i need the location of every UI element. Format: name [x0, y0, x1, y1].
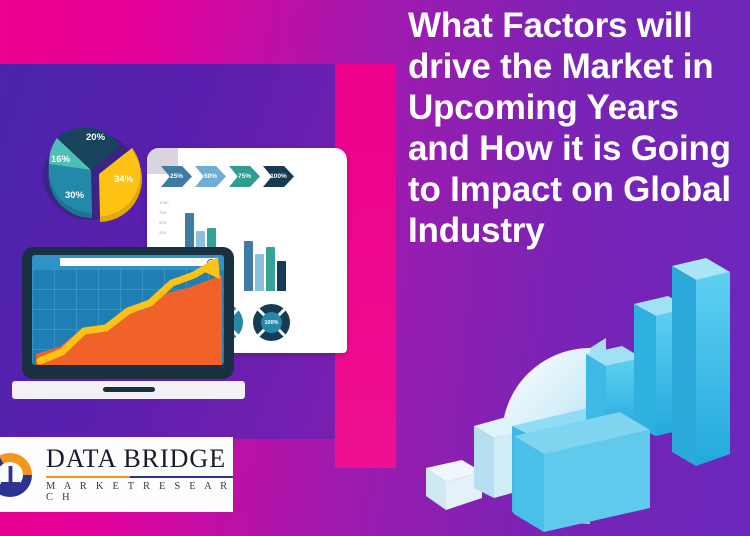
pie-label-30: 30%	[65, 190, 84, 201]
headline-line-3: Upcoming Years	[408, 88, 750, 129]
laptop-screen	[32, 255, 224, 365]
bar-g2-d	[277, 261, 286, 291]
pie-label-34: 34%	[114, 174, 133, 185]
data-bridge-logo-mark	[0, 449, 36, 501]
laptop-trackpad	[103, 387, 155, 392]
ytick-1: 1000	[159, 200, 169, 205]
brand-logo-card: DATA BRIDGE M A R K E T R E S E A R C H	[0, 437, 233, 512]
laptop-lid	[22, 247, 234, 379]
donut-gauge-100: 100%	[253, 304, 290, 341]
bar-g2-c	[266, 247, 275, 291]
art-bar-5	[672, 258, 730, 466]
headline-line-5: to Impact on Global	[408, 170, 750, 211]
pie-slice-30	[49, 164, 92, 213]
promo-banner: What Factors will drive the Market in Up…	[0, 0, 750, 536]
headline-line-4: and How it is Going	[408, 129, 750, 170]
pie-label-16: 16%	[51, 154, 70, 165]
ytick-3: 500	[159, 220, 169, 225]
ytick-2: 750	[159, 210, 169, 215]
three-d-bar-art	[410, 240, 750, 536]
headline-line-1: What Factors will	[408, 6, 750, 47]
laptop-mockup	[12, 247, 245, 399]
exploded-pie-chart: 20% 16% 30% 34%	[35, 112, 153, 224]
bar-group-2	[244, 241, 286, 291]
chevron-25[interactable]: 25%	[161, 166, 192, 187]
brand-text: DATA BRIDGE M A R K E T R E S E A R C H	[46, 446, 233, 503]
pie-label-20: 20%	[86, 132, 105, 143]
brand-tagline: M A R K E T R E S E A R C H	[46, 481, 233, 503]
art-cube-small	[426, 460, 482, 510]
pie-svg	[35, 112, 153, 224]
laptop-base	[12, 381, 245, 399]
brand-name: DATA BRIDGE	[46, 446, 233, 472]
chevron-50[interactable]: 50%	[195, 166, 226, 187]
headline-line-2: drive the Market in	[408, 47, 750, 88]
chevron-progress-row: 25% 50% 75% 100%	[161, 166, 294, 187]
page-title: What Factors will drive the Market in Up…	[408, 6, 750, 252]
chevron-75[interactable]: 75%	[229, 166, 260, 187]
chevron-100[interactable]: 100%	[263, 166, 294, 187]
ytick-4: 250	[159, 230, 169, 235]
bar-chart-y-axis: 1000 750 500 250	[159, 200, 169, 235]
donut-label-100: 100%	[261, 312, 282, 333]
brand-rule	[46, 476, 233, 478]
bar-g2-a	[244, 241, 253, 291]
trend-arrow-line	[32, 255, 224, 365]
bar-g2-b	[255, 254, 264, 291]
